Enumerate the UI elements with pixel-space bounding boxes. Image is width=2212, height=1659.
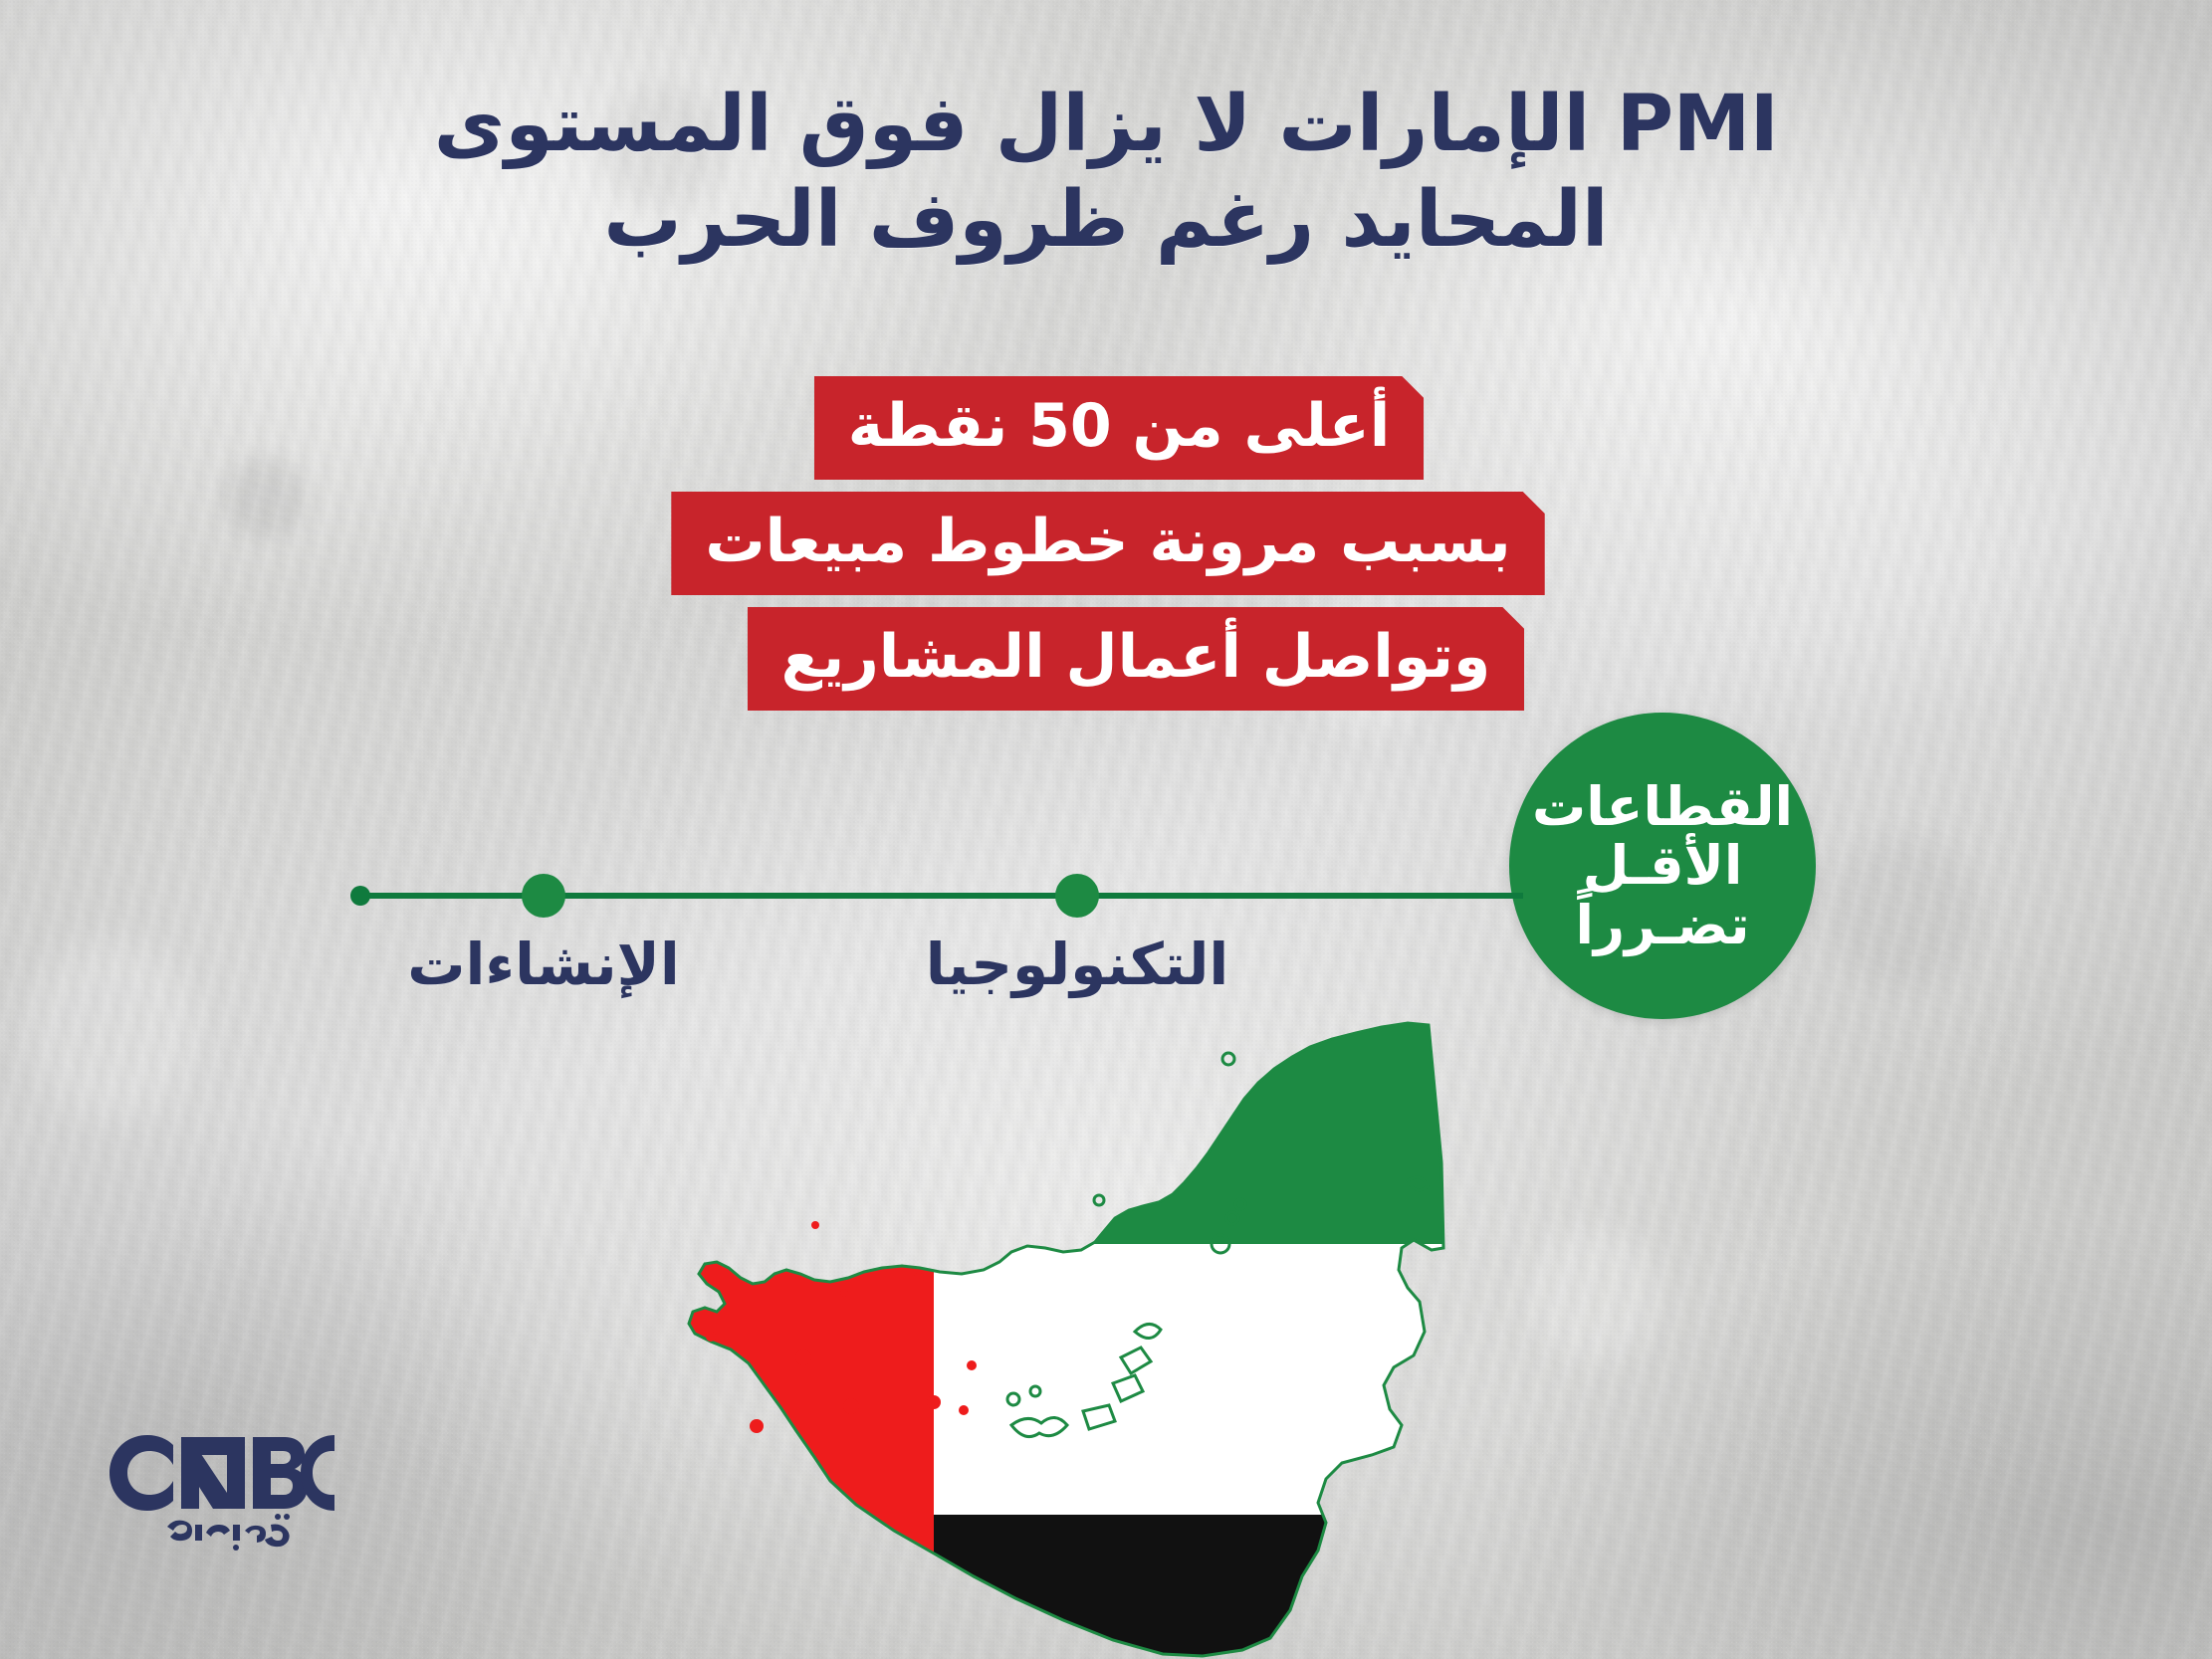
uae-flag-fill [645,1013,1461,1659]
banner-reason-projects: وتواصل أعمال المشاريع [748,607,1525,711]
least-affected-sectors-badge: القطاعات الأقـل تضـرراً [1509,713,1816,1019]
headline: PMI الإمارات لا يزال فوق المستوى المحايد… [0,78,2212,269]
timeline-dot-construction [522,874,565,918]
cnbc-wordmark-icon [110,1435,334,1511]
banner-threshold: أعلى من 50 نقطة [814,376,1425,480]
badge-line-3: تضـرراً [1575,896,1749,954]
cnbc-arabia-logo [104,1421,334,1556]
banner-reason-sales: بسبب مرونة خطوط مبيعات [671,492,1544,595]
badge-line-2: الأقـل [1583,836,1743,895]
uae-map [645,1013,1461,1659]
badge-line-1: القطاعات [1532,777,1793,836]
headline-line-2: المحايد رغم ظروف الحرب [299,173,1913,269]
banner-stack: أعلى من 50 نقطة بسبب مرونة خطوط مبيعات و… [0,376,2212,711]
infographic-canvas: PMI الإمارات لا يزال فوق المستوى المحايد… [0,0,2212,1659]
sector-label-construction: الإنشاءات [407,935,679,993]
timeline-dot-technology [1055,874,1099,918]
sector-label-technology: التكنولوجيا [926,935,1229,993]
cnbc-arabic-subtitle [167,1514,290,1551]
headline-line-1: PMI الإمارات لا يزال فوق المستوى [299,78,1913,173]
timeline-labels: الإنشاءات التكنولوجيا [350,935,1525,1005]
sector-timeline [350,876,1525,916]
